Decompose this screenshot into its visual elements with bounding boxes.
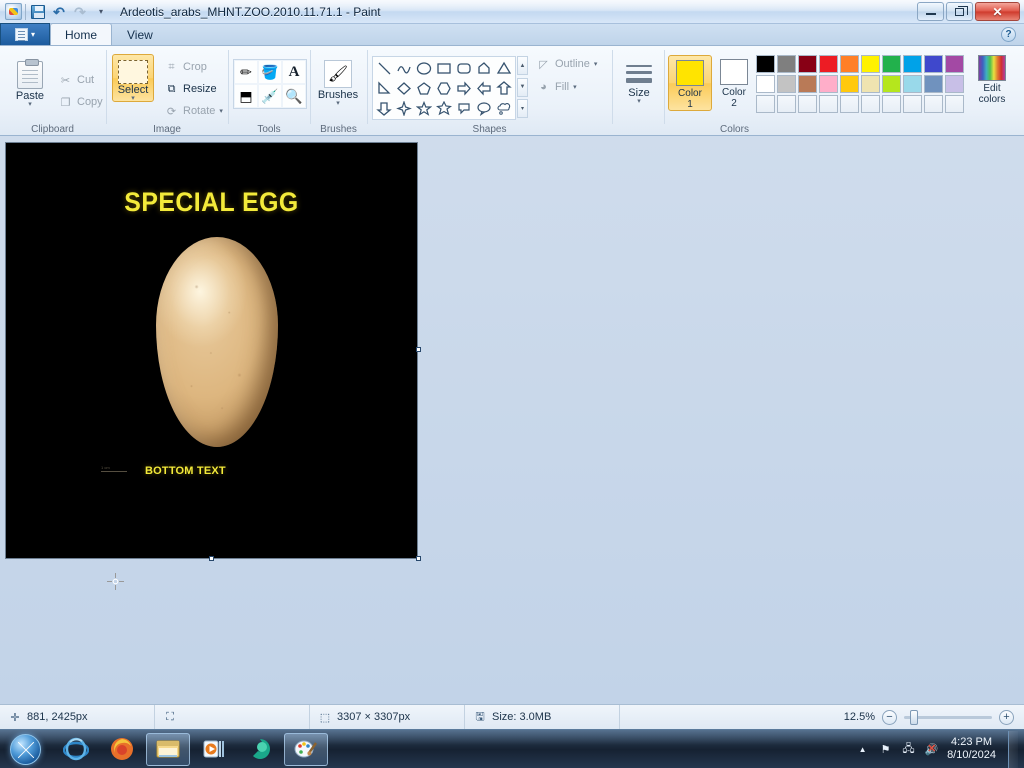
zoom-out-button[interactable]: − <box>882 710 897 725</box>
rainbow-icon <box>978 55 1006 81</box>
image-size-icon: ⬚ <box>318 710 332 724</box>
taskbar-item-firefox[interactable] <box>100 733 144 766</box>
clipboard-icon <box>17 61 43 89</box>
tab-home[interactable]: Home <box>50 23 112 45</box>
palette-swatch[interactable] <box>861 55 880 73</box>
volume-muted-icon[interactable]: 🔊✕ <box>924 742 939 757</box>
zoom-slider-thumb[interactable] <box>910 710 918 725</box>
outline-button[interactable]: ◸ Outline ▾ <box>533 54 600 74</box>
scroll-up-icon[interactable]: ▲ <box>517 56 528 75</box>
rotate-button[interactable]: ⟳ Rotate ▾ <box>161 101 226 121</box>
show-desktop-button[interactable] <box>1008 731 1018 768</box>
scroll-down-icon[interactable]: ▼ <box>517 78 528 97</box>
folder-icon <box>155 736 181 762</box>
taskbar-item-paint[interactable] <box>284 733 328 766</box>
palette-swatch[interactable] <box>840 75 859 93</box>
color-1-swatch <box>676 60 704 86</box>
crop-icon: ⌗ <box>164 60 179 75</box>
recent-color-slot[interactable] <box>756 95 775 113</box>
shape-right-triangle[interactable] <box>374 78 394 98</box>
ribbon-group-brushes: 🖌 Brushes ▾ Brushes <box>311 46 366 136</box>
restore-button[interactable] <box>946 2 973 21</box>
shape-up-arrow[interactable] <box>494 78 514 98</box>
ribbon-group-colors: Color 1 Color 2 Edit colors Colors <box>665 46 1024 136</box>
save-icon[interactable] <box>29 3 47 21</box>
egg-image <box>156 237 278 447</box>
scale-bar: 1 cm <box>101 465 127 472</box>
group-label-tools: Tools <box>229 124 309 135</box>
qat-divider <box>25 4 26 20</box>
shape-five-point-star[interactable] <box>414 98 434 118</box>
outline-icon: ◸ <box>536 57 551 72</box>
color-1-button[interactable]: Color 1 <box>668 55 712 111</box>
quick-access-toolbar[interactable]: ↶ ↷ ▾ <box>0 3 110 21</box>
paint-icon <box>293 736 319 762</box>
ribbon: Paste ▾ ✂ Cut ❐ Copy Clipboard Select ▾ … <box>0 46 1024 136</box>
color-2-swatch <box>720 59 748 85</box>
shapes-gallery[interactable]: ▲ ▼ ▾ <box>372 56 528 120</box>
color-palette[interactable] <box>756 55 965 114</box>
shape-rounded-callout[interactable] <box>454 98 474 118</box>
title-bar[interactable]: ↶ ↷ ▾ Ardeotis_arabs_MHNT.ZOO.2010.11.71… <box>0 0 1024 24</box>
copy-button[interactable]: ❐ Copy <box>55 92 106 112</box>
palette-swatch[interactable] <box>861 75 880 93</box>
recent-color-slot[interactable] <box>840 95 859 113</box>
taskbar-item-windows-explorer[interactable] <box>146 733 190 766</box>
selection-rectangle-icon <box>118 60 148 84</box>
chevron-down-icon: ▾ <box>637 99 641 104</box>
group-label-clipboard: Clipboard <box>0 124 105 135</box>
zoom-controls[interactable]: 12.5% − + <box>844 710 1024 725</box>
edit-colors-button[interactable]: Edit colors <box>971 55 1013 105</box>
scissors-icon: ✂ <box>58 73 73 88</box>
eraser-icon[interactable]: ⬒ <box>234 84 258 108</box>
ribbon-group-image: Select ▾ ⌗ Crop ⧉ Resize ⟳ Rotate ▾ Imag… <box>107 46 227 136</box>
redo-icon[interactable]: ↷ <box>71 3 89 21</box>
chevron-down-icon: ▾ <box>31 30 35 39</box>
recent-color-slot[interactable] <box>861 95 880 113</box>
selection-size-icon: ⛶ <box>163 710 177 724</box>
palette-swatch[interactable] <box>924 55 943 73</box>
fill-bucket-icon[interactable]: 🪣 <box>258 60 282 84</box>
zoom-level-label: 12.5% <box>844 711 875 723</box>
palette-swatch[interactable] <box>777 55 796 73</box>
ribbon-group-tools: ✏ 🪣 A ⬒ 💉 🔍 Tools <box>229 46 309 136</box>
clock-time: 4:23 PM <box>947 736 996 749</box>
fill-icon: ◕ <box>536 80 551 95</box>
chevron-down-icon: ▾ <box>28 102 32 107</box>
shape-diamond[interactable] <box>394 78 414 98</box>
taskbar-item-media-player[interactable] <box>192 733 236 766</box>
app-icon <box>247 736 273 762</box>
shape-four-point-star[interactable] <box>394 98 414 118</box>
palette-swatch[interactable] <box>945 75 964 93</box>
palette-swatch[interactable] <box>819 75 838 93</box>
shape-hexagon[interactable] <box>434 78 454 98</box>
menu-doc-icon <box>15 28 28 41</box>
recent-color-slot[interactable] <box>798 95 817 113</box>
chevron-down-icon: ▾ <box>573 85 577 90</box>
taskbar-item-app[interactable] <box>238 733 282 766</box>
chevron-down-icon: ▾ <box>131 96 135 101</box>
canvas-bottom-text: BOTTOM TEXT <box>145 465 226 477</box>
window-controls[interactable]: ✕ <box>917 2 1020 21</box>
shape-right-arrow[interactable] <box>454 78 474 98</box>
firefox-icon <box>109 736 135 762</box>
shape-rounded-rectangle[interactable] <box>454 58 474 78</box>
status-image-dimensions: ⬚ 3307 × 3307px <box>310 705 465 730</box>
ribbon-tab-strip[interactable]: ▾ Home View ? <box>0 24 1024 46</box>
chevron-down-icon: ▾ <box>219 109 223 114</box>
network-icon[interactable]: 🖧 <box>901 742 916 757</box>
recent-color-slot[interactable] <box>945 95 964 113</box>
recent-color-slot[interactable] <box>882 95 901 113</box>
shape-rectangle[interactable] <box>434 58 454 78</box>
resize-handle-right[interactable] <box>416 347 421 352</box>
customize-qat-icon[interactable]: ▾ <box>92 3 110 21</box>
resize-icon: ⧉ <box>164 82 179 97</box>
palette-swatch[interactable] <box>882 75 901 93</box>
canvas-top-text: SPECIAL EGG <box>22 187 400 218</box>
pencil-icon[interactable]: ✏ <box>234 60 258 84</box>
tab-view[interactable]: View <box>112 24 168 45</box>
rotate-icon: ⟳ <box>164 104 179 119</box>
cut-button[interactable]: ✂ Cut <box>55 70 97 90</box>
shape-curve[interactable] <box>394 58 414 78</box>
clock[interactable]: 4:23 PM 8/10/2024 <box>947 736 1000 762</box>
save-size-icon: 🖫 <box>473 710 487 724</box>
fill-button[interactable]: ◕ Fill ▾ <box>533 77 580 97</box>
shape-polygon[interactable] <box>474 58 494 78</box>
brush-size-icon <box>626 61 652 83</box>
resize-handle-bottom[interactable] <box>209 556 214 561</box>
shape-line[interactable] <box>374 58 394 78</box>
palette-swatch[interactable] <box>798 55 817 73</box>
close-button[interactable]: ✕ <box>975 2 1020 21</box>
taskbar-item-internet-explorer[interactable] <box>54 733 98 766</box>
chevron-down-icon: ▾ <box>594 62 598 67</box>
start-button[interactable] <box>2 732 48 767</box>
brushes-button[interactable]: 🖌 Brushes ▾ <box>314 55 362 107</box>
zoom-in-button[interactable]: + <box>999 710 1014 725</box>
minimize-button[interactable] <box>917 2 944 21</box>
palette-swatch[interactable] <box>756 55 775 73</box>
paint-app-icon[interactable] <box>4 3 22 21</box>
copy-icon: ❐ <box>58 95 73 110</box>
palette-swatch[interactable] <box>924 75 943 93</box>
taskbar-items[interactable] <box>54 733 328 766</box>
recent-color-slot[interactable] <box>903 95 922 113</box>
palette-swatch[interactable] <box>756 75 775 93</box>
paint-application-menu-button[interactable]: ▾ <box>0 23 50 45</box>
shape-pentagon[interactable] <box>414 78 434 98</box>
ribbon-group-size: Size ▾ <box>613 46 665 136</box>
select-button[interactable]: Select ▾ <box>112 54 154 102</box>
undo-icon[interactable]: ↶ <box>50 3 68 21</box>
paint-canvas[interactable]: SPECIAL EGG 1 cm BOTTOM TEXT <box>5 142 418 559</box>
shapes-more-icon[interactable]: ▾ <box>517 99 528 118</box>
shape-six-point-star[interactable] <box>434 98 454 118</box>
shapes-scroll-buttons[interactable]: ▲ ▼ ▾ <box>517 56 528 118</box>
action-center-flag-icon[interactable]: ⚑ <box>878 742 893 757</box>
window-title: Ardeotis_arabs_MHNT.ZOO.2010.11.71.1 - P… <box>120 0 381 24</box>
palette-swatch[interactable] <box>840 55 859 73</box>
media-player-icon <box>201 736 227 762</box>
shape-down-arrow[interactable] <box>374 98 394 118</box>
ribbon-group-shapes: ▲ ▼ ▾ ◸ Outline ▾ ◕ Fill ▾ Shapes <box>368 46 611 136</box>
size-button[interactable]: Size ▾ <box>615 56 663 105</box>
palette-swatch[interactable] <box>777 75 796 93</box>
shape-cloud-callout[interactable] <box>494 98 514 118</box>
palette-swatch[interactable] <box>945 55 964 73</box>
internet-explorer-icon <box>63 736 89 762</box>
zoom-slider[interactable] <box>904 716 992 719</box>
crosshair-cursor <box>107 573 124 590</box>
recent-color-slot[interactable] <box>819 95 838 113</box>
taskbar[interactable]: ▲ ⚑ 🖧 🔊✕ 4:23 PM 8/10/2024 <box>0 729 1024 768</box>
resize-handle-corner[interactable] <box>416 556 421 561</box>
canvas-work-area[interactable]: SPECIAL EGG 1 cm BOTTOM TEXT <box>0 136 1024 704</box>
system-tray[interactable]: ▲ ⚑ 🖧 🔊✕ 4:23 PM 8/10/2024 <box>855 731 1024 768</box>
paintbrush-icon: 🖌 <box>324 60 352 88</box>
status-selection-size: ⛶ <box>155 705 310 730</box>
palette-swatch[interactable] <box>903 75 922 93</box>
text-tool-icon[interactable]: A <box>282 60 306 84</box>
shape-left-arrow[interactable] <box>474 78 494 98</box>
palette-swatch[interactable] <box>819 55 838 73</box>
group-label-image: Image <box>107 124 227 135</box>
status-bar: ✛ 881, 2425px ⛶ ⬚ 3307 × 3307px 🖫 Size: … <box>0 704 1024 729</box>
tools-grid[interactable]: ✏ 🪣 A ⬒ 💉 🔍 <box>233 59 307 109</box>
position-icon: ✛ <box>8 710 22 724</box>
recent-color-slot[interactable] <box>777 95 796 113</box>
windows-logo-icon <box>10 734 41 765</box>
group-label-colors: Colors <box>555 124 914 135</box>
color-picker-icon[interactable]: 💉 <box>258 84 282 108</box>
show-hidden-icons-icon[interactable]: ▲ <box>855 742 870 757</box>
group-label-brushes: Brushes <box>311 124 366 135</box>
ribbon-group-clipboard: Paste ▾ ✂ Cut ❐ Copy Clipboard <box>0 46 105 136</box>
palette-swatch[interactable] <box>798 75 817 93</box>
paste-button[interactable]: Paste ▾ <box>6 56 54 108</box>
shape-triangle[interactable] <box>494 58 514 78</box>
chevron-down-icon: ▾ <box>336 101 340 106</box>
shape-oval[interactable] <box>414 58 434 78</box>
help-icon[interactable]: ? <box>1001 27 1016 42</box>
clock-date: 8/10/2024 <box>947 749 996 762</box>
palette-swatch[interactable] <box>903 55 922 73</box>
status-cursor-position: ✛ 881, 2425px <box>0 705 155 730</box>
shape-oval-callout[interactable] <box>474 98 494 118</box>
magnifier-icon[interactable]: 🔍 <box>282 84 306 108</box>
status-file-size: 🖫 Size: 3.0MB <box>465 705 620 730</box>
crop-button[interactable]: ⌗ Crop <box>161 57 210 77</box>
resize-button[interactable]: ⧉ Resize <box>161 79 220 99</box>
color-2-button[interactable]: Color 2 <box>712 55 756 109</box>
recent-color-slot[interactable] <box>924 95 943 113</box>
palette-swatch[interactable] <box>882 55 901 73</box>
